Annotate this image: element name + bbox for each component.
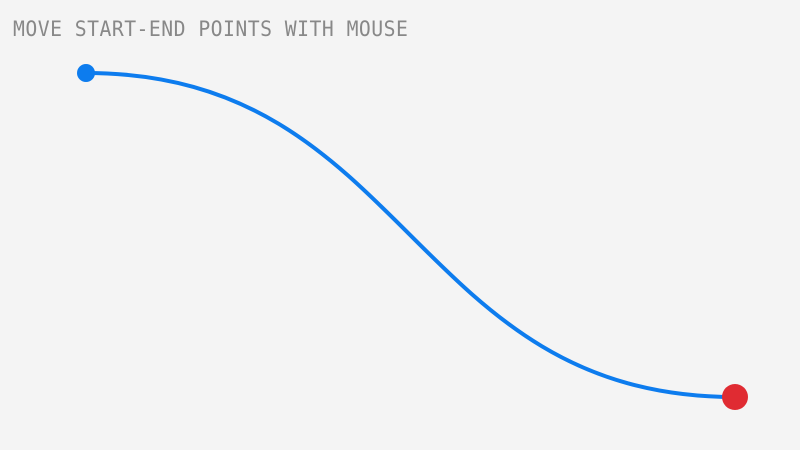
start-point-handle[interactable] (77, 64, 95, 82)
bezier-curve-svg (0, 0, 800, 450)
drawing-canvas[interactable]: MOVE START-END POINTS WITH MOUSE (0, 0, 800, 450)
page-title: MOVE START-END POINTS WITH MOUSE (13, 18, 408, 40)
bezier-curve-app: MOVE START-END POINTS WITH MOUSE (0, 0, 800, 450)
end-point-handle[interactable] (722, 384, 748, 410)
